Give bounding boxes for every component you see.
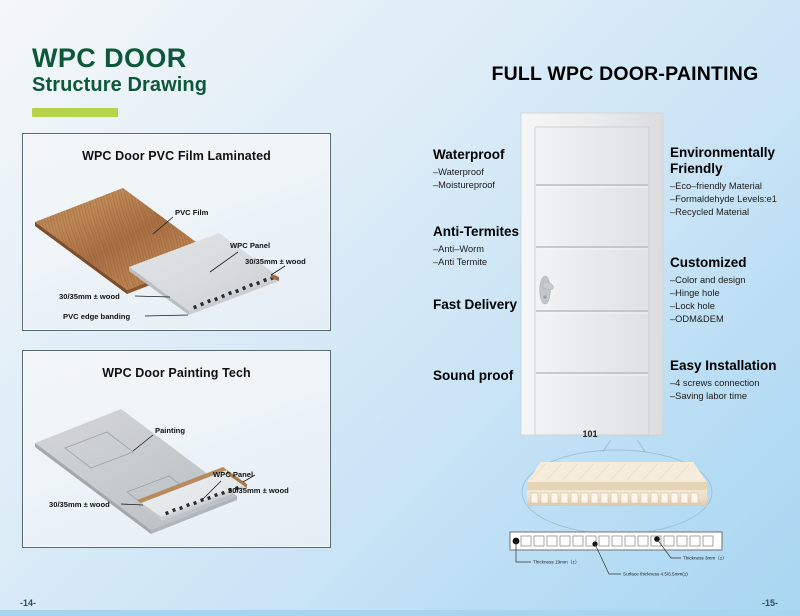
label-edge-banding: PVC edge banding (63, 312, 130, 321)
feature-item: –ODM&DEM (670, 313, 747, 326)
door-model-number: 101 (560, 429, 620, 439)
feature-heading: Environmentally Friendly (670, 145, 777, 177)
feature-heading: Customized (670, 255, 747, 271)
feature-heading: Easy Installation (670, 358, 777, 374)
diagram-panel-painting-tech: WPC Door Painting Tech (22, 350, 331, 548)
feature-item: –Color and design (670, 274, 747, 287)
footer-bar (0, 610, 800, 616)
feature-easy-installation: Easy Installation –4 screws connection –… (670, 358, 777, 403)
painting-tech-diagram: Painting WPC Panel 30/35mm ± wood 30/35m… (23, 351, 330, 547)
feature-customized: Customized –Color and design –Hinge hole… (670, 255, 747, 327)
feature-item: –Recycled Material (670, 206, 777, 219)
feature-anti-termites: Anti-Termites –Anti–Worm –Anti Termite (433, 224, 519, 269)
core-structure-detail: Thickness 19mm（±） Surface thickness 4.5/… (485, 440, 745, 580)
feature-item: –Eco–friendly Material (670, 180, 777, 193)
left-heading: WPC DOOR Structure Drawing (32, 44, 207, 97)
feature-item: –Saving labor time (670, 390, 777, 403)
feature-heading: Waterproof (433, 147, 505, 163)
label-pvc-film: PVC Film (175, 208, 209, 217)
feature-environmentally-friendly: Environmentally Friendly –Eco–friendly M… (670, 145, 777, 219)
feature-item: –Hinge hole (670, 287, 747, 300)
feature-item: –Moistureproof (433, 179, 505, 192)
feature-item: –Anti–Worm (433, 243, 519, 256)
feature-waterproof: Waterproof –Waterproof –Moistureproof (433, 147, 505, 192)
label-wood-right: 30/35mm ± wood (245, 257, 306, 266)
feature-list: –Eco–friendly Material –Formaldehyde Lev… (670, 180, 777, 220)
page-subtitle: Structure Drawing (32, 74, 207, 97)
page-number-left: -14- (20, 598, 36, 608)
label-wpc-panel: WPC Panel (213, 470, 253, 479)
door-illustration (505, 105, 685, 445)
diagram-panel-pvc-film: WPC Door PVC Film Laminated (22, 133, 331, 331)
feature-item: –Formaldehyde Levels:e1 (670, 193, 777, 206)
label-wood-right: 30/35mm ± wood (228, 486, 289, 495)
pvc-film-laminated-diagram: PVC Film WPC Panel 30/35mm ± wood 30/35m… (23, 134, 330, 330)
feature-list: –Color and design –Hinge hole –Lock hole… (670, 274, 747, 327)
label-painting: Painting (155, 426, 185, 435)
label-wpc-panel: WPC Panel (230, 241, 270, 250)
feature-heading: Sound proof (433, 368, 513, 384)
feature-item: –Lock hole (670, 300, 747, 313)
page-number-right: -15- (762, 598, 778, 608)
feature-heading: Anti-Termites (433, 224, 519, 240)
feature-fast-delivery: Fast Delivery (433, 297, 517, 313)
callout-thickness-3: Thickness 3mm（±） (683, 556, 727, 561)
page-title: WPC DOOR (32, 44, 207, 72)
callout-thickness-19: Thickness 19mm（±） (533, 560, 579, 565)
feature-list: –Anti–Worm –Anti Termite (433, 243, 519, 269)
feature-list: –Waterproof –Moistureproof (433, 166, 505, 192)
label-wood-left: 30/35mm ± wood (49, 500, 110, 509)
brochure-page: WPC DOOR Structure Drawing WPC Door PVC … (0, 0, 800, 616)
feature-item: –Anti Termite (433, 256, 519, 269)
feature-item: –Waterproof (433, 166, 505, 179)
feature-sound-proof: Sound proof (433, 368, 513, 384)
callout-surface-thickness: Surface thickness 4.5/6.5mm(±) (623, 572, 688, 577)
right-heading: FULL WPC DOOR-PAINTING (460, 63, 790, 86)
label-wood-left: 30/35mm ± wood (59, 292, 120, 301)
feature-item: –4 screws connection (670, 377, 777, 390)
feature-heading: Fast Delivery (433, 297, 517, 313)
accent-bar (32, 108, 118, 117)
feature-list: –4 screws connection –Saving labor time (670, 377, 777, 403)
